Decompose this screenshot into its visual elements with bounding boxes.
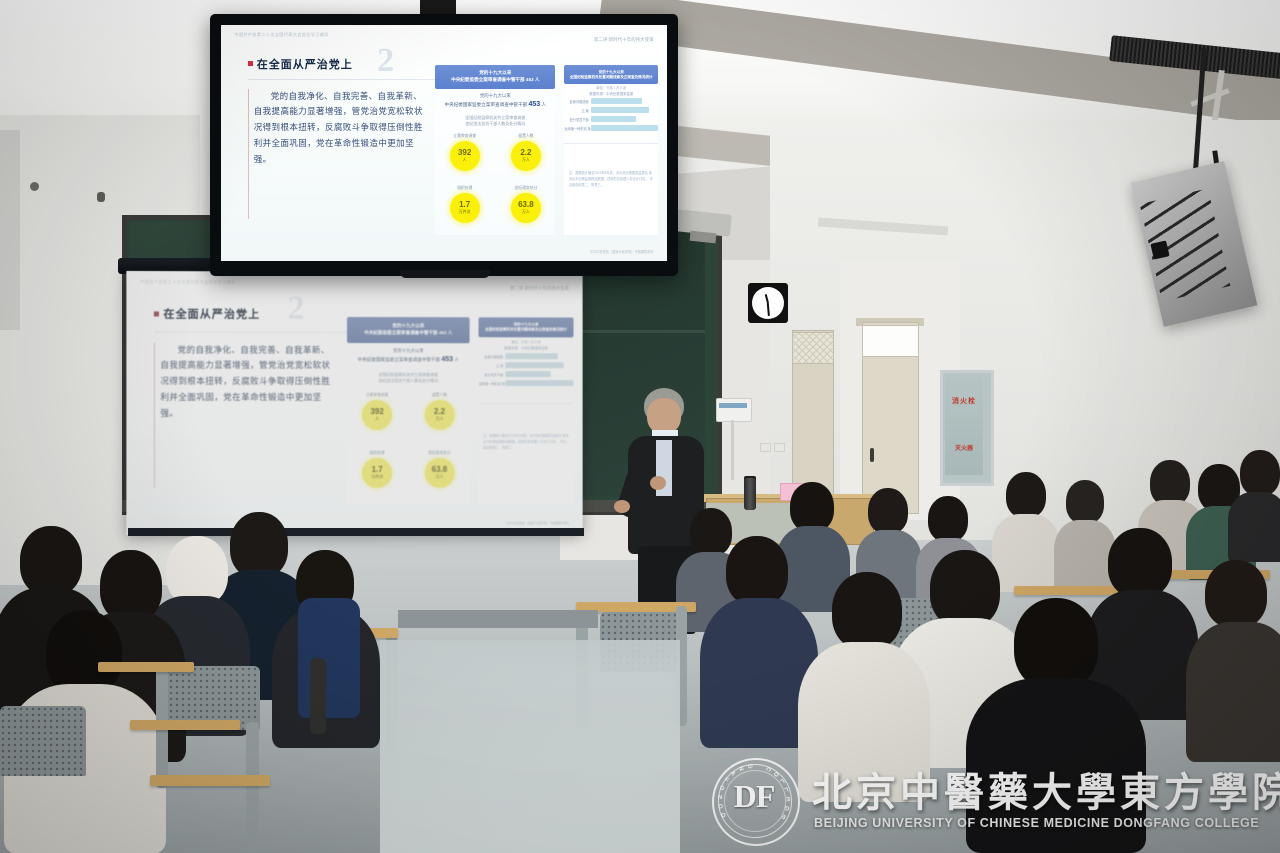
tv-slide-column-a-banner: 党的十九大以来 中央纪委监委立案审查调查中管干部 453 人 bbox=[435, 65, 555, 89]
table-row: 处分党员干部 bbox=[564, 116, 658, 122]
seal-arc-char: O bbox=[772, 770, 780, 777]
slide-column-a-sub: 党的十九大以来 中央纪委国家监委立案审查调查中管干部 453 人 bbox=[347, 348, 470, 363]
slide-header-right: 第二讲 新时代十年的伟大变革 bbox=[510, 286, 569, 292]
floor-aisle bbox=[380, 640, 680, 853]
table-row-bar bbox=[591, 116, 636, 122]
metric-item: 组织处理 1.7 万件次 bbox=[435, 186, 494, 237]
metric-value: 392 bbox=[458, 149, 471, 157]
bullet-square-icon bbox=[154, 311, 159, 316]
slide-section-number: 2 bbox=[287, 290, 304, 328]
metric-label: 留置人数 bbox=[432, 393, 447, 398]
table-row: 立 案 bbox=[564, 107, 658, 113]
speaker-face bbox=[647, 398, 681, 434]
metric-circle: 2.2 万人 bbox=[511, 141, 541, 171]
metric-unit: 万人 bbox=[435, 415, 443, 421]
chair-back bbox=[0, 706, 86, 776]
seal-arc-char: G bbox=[719, 785, 725, 792]
desk-surface bbox=[150, 775, 270, 786]
student-head bbox=[1066, 480, 1104, 524]
student-head bbox=[1205, 560, 1267, 628]
seal-arc-char: C bbox=[764, 766, 771, 772]
metric-item: 立案审查调查 392 人 bbox=[435, 134, 494, 185]
student-head bbox=[930, 550, 1000, 628]
metric-circle: 392 人 bbox=[362, 400, 392, 430]
seal-arc-char: O bbox=[718, 804, 724, 811]
student-head bbox=[1014, 598, 1098, 690]
tv-slide-header-right: 第二讲 新时代十年的伟大变革 bbox=[594, 37, 654, 43]
clock-minute-hand bbox=[767, 303, 770, 316]
metric-item: 党纪政务处分 63.8 万人 bbox=[496, 186, 555, 237]
seal-arc-char: L bbox=[783, 785, 788, 792]
student-body bbox=[1186, 622, 1280, 762]
tv-slide-table-note: 注：数据统计截至2022年9月底，含中央纪委国家监委及 各省区市纪委监委报送数据… bbox=[569, 171, 654, 188]
metric-value: 392 bbox=[370, 408, 383, 416]
slide-column-b-banner: 党的十九大以来 全国纪检监察机关处置问题线索及立案查处情况统计 bbox=[479, 317, 574, 338]
tv-sub-a-value: 453 bbox=[528, 101, 540, 108]
wall-tv-screen: 中国共产党第二十次全国代表大会报告学习辅导 第二讲 新时代十年的伟大变革 2 在… bbox=[221, 25, 667, 261]
tv-sub-a-line1: 党的十九大以来 bbox=[435, 93, 555, 99]
table-row-label: 运用第一种形态 批评教育帮助 党员干部人次 bbox=[479, 381, 504, 386]
metric-label: 党纪政务处分 bbox=[514, 186, 537, 191]
table-row: 处置问题线索 bbox=[564, 98, 658, 104]
metric-label: 立案审查调查 bbox=[453, 134, 476, 139]
sub-a-suffix: 人 bbox=[454, 357, 459, 362]
table-row-bar bbox=[505, 371, 550, 377]
sub-a-value: 453 bbox=[441, 356, 453, 363]
seal-arc-char: E bbox=[786, 795, 790, 801]
clock-hour-hand bbox=[765, 294, 769, 303]
tv-banner-a-line2: 中央纪委监委立案审查调查中管干部 453 人 bbox=[451, 77, 539, 83]
tv-slide-header-left: 中国共产党第二十次全国代表大会报告学习辅导 bbox=[234, 32, 329, 38]
wall-control-box-display bbox=[719, 403, 747, 408]
banner-a-line1: 党的十九大以来 bbox=[392, 323, 424, 329]
metric-value: 2.2 bbox=[434, 408, 445, 416]
slide-bar-table: 处置问题线索 立 案 处分党员干部 运用第一种形态 批评教育帮助 党员干部人次 bbox=[479, 353, 574, 389]
metric-unit: 人 bbox=[463, 157, 467, 163]
slide-header-left: 中国共产党第二十次全国代表大会报告学习辅导 bbox=[140, 279, 235, 285]
metric-label: 立案审查调查 bbox=[366, 393, 389, 398]
metric-circle: 2.2 万人 bbox=[425, 400, 455, 430]
metric-unit: 万人 bbox=[522, 209, 530, 215]
seal-arc-char: A bbox=[729, 770, 736, 777]
seal-arc-char: N bbox=[718, 795, 723, 801]
slide-title: 在全面从严治党上 bbox=[154, 305, 260, 321]
tv-banner-b-line2: 全国纪检监察机关处置问题线索及立案查处情况统计 bbox=[570, 75, 653, 80]
table-row-label: 处分党员干部 bbox=[479, 372, 504, 377]
ceiling-sensor-icon bbox=[97, 192, 105, 202]
slide-body-text: 党的自我净化、自我完善、自我革新、自我提高能力显著增强，管党治党宽松软状况得到根… bbox=[160, 342, 334, 421]
tv-sub-a-line2: 中央纪委国家监委立案审查调查中管干部 453 人 bbox=[435, 101, 555, 108]
metric-value: 2.2 bbox=[520, 149, 531, 157]
metric-unit: 万人 bbox=[522, 157, 530, 163]
watermark-english-name: BEIJING UNIVERSITY OF CHINESE MEDICINE D… bbox=[814, 816, 1259, 830]
clock-face bbox=[752, 287, 784, 319]
backpack bbox=[298, 598, 360, 718]
metric-unit: 人 bbox=[375, 416, 379, 422]
metric-label: 组织处理 bbox=[457, 186, 472, 191]
student-head bbox=[230, 512, 288, 578]
table-row-bar bbox=[591, 98, 643, 104]
metric-circle: 1.7 万件次 bbox=[450, 193, 480, 223]
room-background: 消火栓 灭火器 主讲人 中国共产党第二十次全国代表大会报告学习辅导 第二讲 新时… bbox=[0, 0, 1280, 853]
seal-arc-char: G bbox=[784, 804, 790, 811]
door-right-transom bbox=[862, 325, 919, 357]
table-row-label: 处置问题线索 bbox=[564, 99, 588, 104]
table-row-bar bbox=[505, 362, 564, 368]
banner-b-line2: 全国纪检监察机关处置问题线索及立案查处情况统计 bbox=[485, 327, 567, 332]
sub-a-prefix: 中央纪委国家监委立案审查调查中管干部 bbox=[358, 357, 440, 362]
slide-title-text: 在全面从严治党上 bbox=[163, 306, 260, 322]
student-head bbox=[1006, 472, 1046, 518]
metric-value: 63.8 bbox=[518, 201, 534, 209]
sub-a-line1: 党的十九大以来 bbox=[347, 348, 470, 354]
student-head bbox=[690, 508, 732, 556]
tv-banner-a-line1: 党的十九大以来 bbox=[479, 70, 511, 76]
tv-slide-footer-right: 中共中央党校（国家行政学院）专题辅导材料 bbox=[590, 249, 654, 254]
student-head bbox=[1240, 450, 1280, 496]
fire-cabinet-label-top: 消火栓 bbox=[952, 398, 976, 405]
tv-slide-body: 党的自我净化、自我完善、自我革新、自我提高能力显著增强，管党治党宽松软状况得到根… bbox=[248, 89, 423, 219]
tv-slide-body-text: 党的自我净化、自我完善、自我革新、自我提高能力显著增强，管党治党宽松软状况得到根… bbox=[254, 89, 423, 168]
student-head bbox=[928, 496, 968, 542]
metric-label: 留置人数 bbox=[518, 134, 533, 139]
table-caption-line2: 数据来源：中央纪委国家监委 bbox=[479, 346, 574, 352]
student-body bbox=[1228, 492, 1280, 562]
table-row-bar bbox=[591, 107, 649, 113]
table-row-label: 处置问题线索 bbox=[479, 354, 504, 359]
table-row-bar bbox=[505, 353, 557, 359]
table-row-label: 处分党员干部 bbox=[564, 117, 588, 122]
slide-column-a-note: 全国纪检监察机关共立案审查调查 违纪违法党员干部人数及处分情况 bbox=[347, 372, 470, 385]
table-row-label: 运用第一种形态 批评教育帮助 党员干部人次 bbox=[564, 126, 588, 131]
tv-slide-metric-circles: 立案审查调查 392 人 留置人数 2.2 万人 bbox=[435, 134, 555, 238]
slide-column-a-banner: 党的十九大以来 中央纪委监委立案审查调查中管干部 453 人 bbox=[347, 317, 470, 343]
ceiling-camera-icon bbox=[30, 182, 39, 191]
table-row: 处分党员干部 bbox=[479, 371, 574, 377]
seal-arc-char: N bbox=[737, 766, 744, 772]
tv-slide-column-b-banner: 党的十九大以来 全国纪检监察机关处置问题线索及立案查处情况统计 bbox=[564, 65, 658, 84]
metric-item: 留置人数 2.2 万人 bbox=[496, 134, 555, 185]
student-head bbox=[832, 572, 902, 650]
tv-slide-section-number: 2 bbox=[377, 42, 394, 80]
metric-unit: 万件次 bbox=[459, 209, 471, 215]
desk-surface bbox=[130, 720, 240, 730]
tv-slide-table-divider bbox=[564, 143, 658, 144]
watermark: DONGFANG COLLEGE DF 北京中醫藥大學東方學院 BEIJING … bbox=[712, 756, 1272, 848]
tv-note-a-line2: 违纪违法党员干部人数及处分情况 bbox=[435, 121, 555, 127]
table-row-bar bbox=[591, 125, 658, 131]
student-head bbox=[868, 488, 908, 534]
backpack-strap bbox=[310, 658, 326, 734]
note-a-line2: 违纪违法党员干部人数及处分情况 bbox=[347, 378, 470, 384]
slide-table-caption: 单位：万件 / 万人次 数据来源：中央纪委国家监委 bbox=[479, 340, 574, 352]
left-wall-edge bbox=[0, 130, 20, 330]
seal-monogram: DF bbox=[726, 778, 782, 815]
sub-a-line2: 中央纪委国家监委立案审查调查中管干部 453 人 bbox=[347, 356, 470, 363]
student-head bbox=[1108, 528, 1172, 598]
wall-clock bbox=[748, 283, 788, 323]
tv-bottom-bezel bbox=[400, 270, 490, 278]
slide-table-divider bbox=[479, 403, 574, 404]
tv-sub-a-suffix: 人 bbox=[541, 102, 546, 107]
chair bbox=[246, 722, 259, 852]
metric-circle: 63.8 万人 bbox=[511, 193, 541, 223]
tv-slide: 中国共产党第二十次全国代表大会报告学习辅导 第二讲 新时代十年的伟大变革 2 在… bbox=[221, 25, 667, 261]
table-row-label: 立 案 bbox=[479, 363, 504, 368]
table-row: 立 案 bbox=[479, 362, 574, 368]
tv-sub-a-prefix: 中央纪委国家监委立案审查调查中管干部 bbox=[445, 102, 528, 107]
tv-slide-column-a-sub: 党的十九大以来 中央纪委国家监委立案审查调查中管干部 453 人 bbox=[435, 93, 555, 108]
door-left-transom-grille bbox=[792, 332, 834, 364]
banner-a-line2: 中央纪委监委立案审查调查中管干部 453 人 bbox=[364, 330, 452, 336]
table-row: 处置问题线索 bbox=[479, 353, 574, 359]
tv-slide-column-a-note: 全国纪检监察机关共立案审查调查 违纪违法党员干部人数及处分情况 bbox=[435, 115, 555, 128]
tv-table-caption-line2: 数据来源：中央纪委国家监委 bbox=[564, 92, 658, 98]
table-row-bar bbox=[505, 380, 573, 386]
metric-circle: 392 人 bbox=[450, 141, 480, 171]
table-row: 运用第一种形态 批评教育帮助 党员干部人次 bbox=[564, 125, 658, 131]
student-head bbox=[20, 526, 82, 596]
table-row-label: 立 案 bbox=[564, 108, 588, 113]
student-body bbox=[1054, 520, 1116, 594]
table-row: 运用第一种形态 批评教育帮助 党员干部人次 bbox=[479, 380, 574, 386]
tv-slide-title: 在全面从严治党上 bbox=[248, 56, 353, 72]
tv-slide-table-caption: 单位：万件 / 万人次 数据来源：中央纪委国家监委 bbox=[564, 86, 658, 98]
bullet-square-icon bbox=[248, 61, 253, 66]
tv-slide-title-text: 在全面从严治党上 bbox=[257, 56, 353, 72]
student-head bbox=[726, 536, 788, 606]
floor-step-edge bbox=[398, 610, 598, 628]
student-body bbox=[992, 514, 1060, 592]
student-head bbox=[790, 482, 834, 532]
desk-surface bbox=[98, 662, 194, 672]
seal-arc-char: G bbox=[746, 764, 753, 769]
tv-slide-bar-table: 处置问题线索 立 案 处分党员干部 运用第一种形态 批评教育帮助 党员干部人次 bbox=[564, 98, 658, 134]
watermark-chinese-name: 北京中醫藥大學東方學院 bbox=[812, 760, 1280, 818]
lecture-hall-photo: 消火栓 灭火器 主讲人 中国共产党第二十次全国代表大会报告学习辅导 第二讲 新时… bbox=[0, 0, 1280, 853]
